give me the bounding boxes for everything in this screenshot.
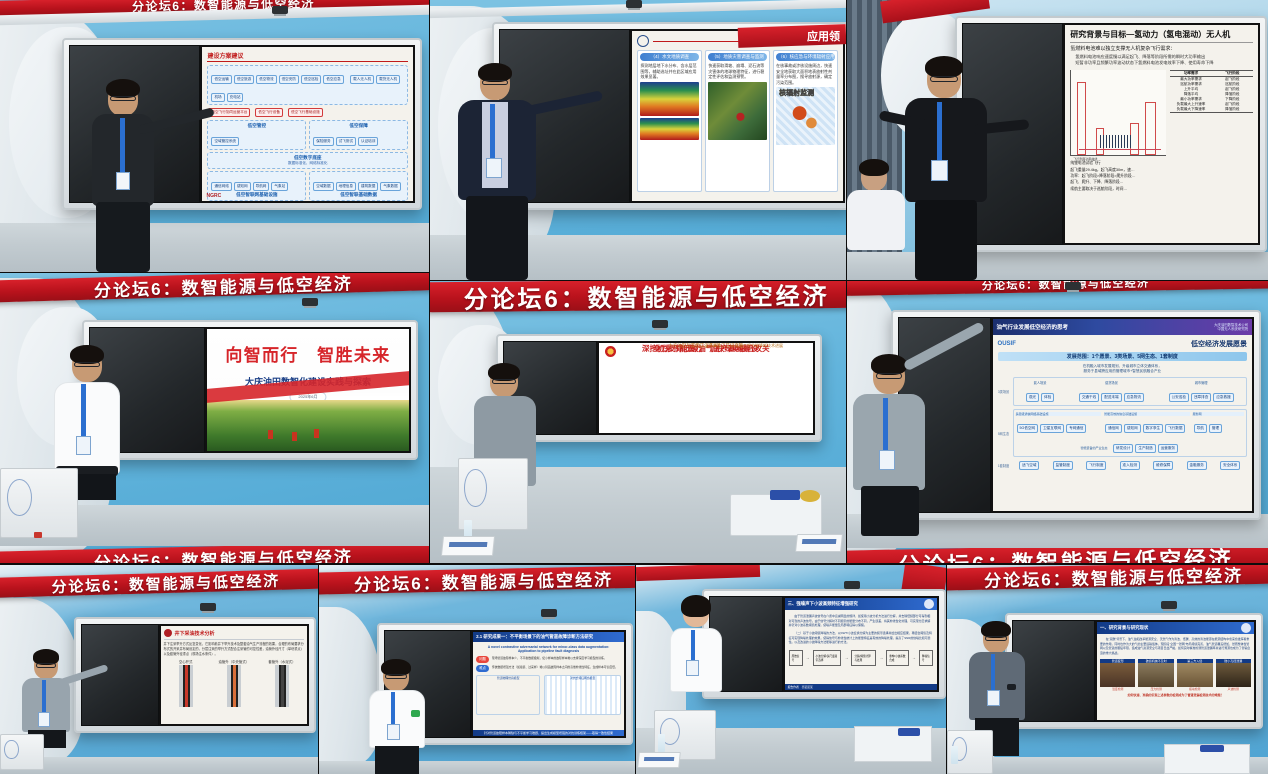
glasses-icon — [110, 96, 135, 101]
lanyard-icon — [120, 118, 125, 174]
badge — [486, 158, 502, 178]
floor — [0, 223, 429, 272]
radiation-label: 核辐射监测 — [779, 89, 814, 98]
university-logo-icon — [924, 599, 934, 609]
speaker-person — [903, 60, 989, 280]
divider-v2 — [846, 0, 847, 565]
power-requirement-table: 功率需求 飞行阶段 最大功率需求起飞阶段 巡航功率需求巡航阶段 上升平均起飞阶段… — [1170, 70, 1253, 156]
slide-title: 油气行业发展低空经济的思考 — [997, 323, 1069, 331]
badge — [38, 712, 50, 727]
chart-xlabel: 飞行剖面功率曲线 — [1073, 157, 1097, 161]
well-diagram — [275, 665, 289, 707]
lanyard-icon — [691, 630, 695, 664]
camera-icon — [1065, 282, 1081, 290]
slide-pipeline-fault: 2.1 研究成果一：不平衡场景下的油气管道故障诊断方法研究 A novel co… — [473, 632, 624, 736]
presentation-screen[interactable]: 应用领域 （4）水文地质调查 探测地层地下水分布、含水层范围等，辅助选址并在此区… — [630, 29, 845, 203]
lanyard-icon — [490, 104, 495, 162]
slide-right-title: 低空经济发展愿景 — [1191, 339, 1247, 349]
speaker-legs — [915, 200, 977, 280]
room-backdrop: 分论坛6：数智能源与低空经济 建设方案建议 低空运输低空旅游低空物流低空安防低空… — [0, 0, 429, 272]
cover-headline: 向智而行 智胜未来 — [207, 341, 409, 366]
presentation-screen[interactable]: 向智而行 智胜未来 大庆油田数智化建设实践与探索 2025年6月 — [205, 327, 411, 453]
arrow-icon: → — [912, 655, 916, 660]
whiteboard-frame: 向智而行 智胜未来 大庆油田数智化建设实践与探索 2025年6月 — [82, 320, 418, 460]
glasses-icon — [36, 663, 56, 667]
badge-difficulty: 难点 — [476, 665, 489, 672]
cover-oilfield-image — [207, 400, 409, 451]
panel-bottom-3: 三、强噪声下小波高频特征增强研究 由于管道泄漏声波信号在介质中衰减明显的规律，如… — [636, 565, 946, 774]
lanyard-icon — [42, 680, 46, 716]
speaker-person — [670, 598, 722, 716]
well-diagram — [227, 665, 241, 707]
badge-problem: 问题 — [476, 656, 489, 663]
presentation-screen[interactable]: 井下采油技术分析 井下注采举升方式反复变化，它影响着井下举升技术及整套油气生产流… — [159, 624, 309, 726]
name-card — [637, 752, 681, 768]
divider-h2 — [0, 563, 1268, 565]
thermal-section-image — [640, 82, 699, 116]
podium-button[interactable] — [34, 532, 42, 538]
photo-thumb — [1100, 663, 1136, 687]
glasses-icon — [492, 379, 516, 384]
presentation-screen[interactable]: 三、强噪声下小波高频特征增强研究 由于管道泄漏声波信号在介质中衰减明显的规律，如… — [783, 596, 939, 692]
chip-platform: 低空飞行协同运营平台 — [208, 108, 250, 117]
band-mid-lines: 数据标准化、网络标准化 — [210, 161, 405, 166]
badge — [116, 172, 130, 190]
camera-icon — [541, 609, 557, 617]
whiteboard-frame: 井下采油技术分析 井下注采举升方式反复变化，它影响着井下举升技术及整套油气生产流… — [74, 617, 316, 733]
whiteboard-frame: 一、研究背景与研究现状 在“双碳”背景下，油气油和改革能源安全、天然气作为清洁、… — [1005, 613, 1263, 729]
whiteboard-frame: 深挖机采节能潜力 加快绿电融合攻关 全力支撑低碳油气生产基地建设 —— 采油工程… — [496, 334, 822, 442]
camera-icon — [272, 6, 288, 14]
whiteboard-frame: 研究背景与目标—氢动力（氢电混动）无人机 氢燃料电池难以独立支撑无人机复杂飞行需… — [955, 16, 1267, 252]
speaker-legs — [96, 202, 150, 272]
university-logo-icon — [637, 35, 649, 47]
water-bottle — [658, 734, 665, 752]
camera-icon — [844, 581, 860, 589]
bullet-3: 短暂非功率且频繁功率波动状态下氢燃料电池发电效率下降、使用寿命下降 — [1070, 60, 1253, 66]
slide-paragraph: 井下注采举升方式反复变化，它影响着井下举升技术及整套油气生产流程的效果，合理的布… — [164, 642, 304, 656]
badge — [987, 690, 1000, 706]
slide-title: 一、研究背景与研究现状 — [1100, 625, 1148, 631]
camera-icon — [652, 320, 668, 328]
lanyard-icon — [81, 384, 86, 440]
name-card-2 — [795, 534, 843, 552]
speaker-legs — [466, 196, 528, 280]
scope-bar: 发展范围：1个愿景、3类场景、5网生态、1套制度 — [998, 352, 1247, 361]
screen-bezel — [202, 201, 413, 203]
slide-low-altitude-economy: 油气行业发展低空经济的思考 大庆油田数智技术公司 中国无人系统研究院 OUSIF… — [993, 319, 1252, 511]
slide-logo: NGRC — [206, 193, 221, 199]
badge — [76, 436, 91, 455]
presentation-screen[interactable]: 建设方案建议 低空运输低空旅游低空物流低空安防低空巡检低空应急 载人无人机载货无… — [200, 45, 415, 203]
glasses-icon — [985, 636, 1007, 641]
band-control: 低空管控 — [210, 123, 303, 129]
folder — [770, 490, 800, 500]
slide-wavelet: 三、强噪声下小波高频特征增强研究 由于管道泄漏声波信号在介质中衰减明显的规律，如… — [785, 598, 937, 690]
slide-notes: 纯锂电池试验飞行 起飞重量29.4kg，起飞高度30m，速… 功率：起飞阶段>降… — [1070, 160, 1253, 192]
university-logo-icon — [1241, 623, 1251, 633]
banner-fragment-text: 应用领 — [807, 28, 840, 44]
paragraph-2: （二）基于小波阈值降噪的方法，以DWT/小波变换分解为主要的频带选择并给出相应结… — [789, 631, 933, 645]
speaker-legs — [375, 746, 419, 774]
whiteboard-frame: 应用领域 （4）水文地质调查 探测地层地下水分布、含水层范围等，辅助选址并在此区… — [492, 22, 846, 210]
speaker-torso — [853, 394, 925, 490]
camera-icon — [1161, 601, 1177, 609]
fruit-plate — [800, 490, 820, 502]
camera-icon — [302, 298, 318, 306]
whiteboard-frame: 三、强噪声下小波高频特征增强研究 由于管道泄漏声波信号在介质中衰减明显的规律，如… — [702, 589, 946, 699]
photo-thumb — [1177, 663, 1213, 687]
divider-v3 — [318, 565, 319, 774]
panel-top-center: 应用领域 （4）水文地质调查 探测地层地下水分布、含水层范围等，辅助选址并在此区… — [430, 0, 846, 280]
slide-title: 建设方案建议 — [207, 51, 408, 62]
badge — [879, 450, 895, 470]
glasses-icon — [930, 76, 959, 82]
photo-thumb — [1138, 663, 1174, 687]
photo-collage: 分论坛6：数智能源与低空经济 建设方案建议 低空运输低空旅游低空物流低空安防低空… — [0, 0, 1268, 774]
side-table — [854, 726, 932, 762]
folder — [898, 728, 920, 736]
case-card: （6）核应急与环境辐射应用 在核事故或涉核设施周边，快速安全地获取大面积地表放射… — [773, 50, 838, 192]
presentation-screen[interactable]: 研究背景与目标—氢动力（氢电混动）无人机 氢燃料电池难以独立支撑无人机复杂飞行需… — [1063, 23, 1260, 245]
slide-hydrogen-uav: 研究背景与目标—氢动力（氢电混动）无人机 氢燃料电池难以独立支撑无人机复杂飞行需… — [1065, 25, 1258, 243]
slide-title: 2.1 研究成果一：不平衡场景下的油气管道故障诊断方法研究 — [473, 632, 624, 642]
slide-footer: 如何快速、准确的实现上述参数的检测成为了管道泄漏检测技术的难题！ — [1100, 693, 1251, 697]
glasses-icon — [74, 362, 99, 367]
case-card: （4）水文地质调查 探测地层地下水分布、含水层范围等，辅助选址并在此区域应用效果… — [637, 50, 702, 192]
panel-bottom-2: 分论坛6：数智能源与低空经济 2.1 研究成果一：不平衡场景下的油气管道故障诊断… — [319, 565, 635, 774]
thermal-profile-image — [640, 118, 699, 140]
speaker-person — [369, 662, 425, 774]
power-profile-chart: 飞行剖面功率曲线 — [1070, 70, 1166, 156]
landslide-image — [708, 82, 767, 140]
lanyard-icon — [991, 654, 995, 692]
case-card: （5）地质灾害调查与监测 快速获取滑坡、崩塌、泥石流等灾害体的地球物理特征，进行… — [705, 50, 770, 192]
speaker-person — [853, 322, 925, 536]
presentation-screen[interactable]: 深挖机采节能潜力 加快绿电融合攻关 全力支撑低碳油气生产基地建设 —— 采油工程… — [597, 341, 815, 435]
badge — [686, 660, 699, 676]
divider-v5 — [946, 565, 947, 774]
chip-infra: 低空飞行基础设施 — [288, 108, 323, 117]
badge — [931, 160, 948, 181]
podium — [0, 468, 78, 538]
slide-cover-daqing: 向智而行 智胜未来 大庆油田数智化建设实践与探索 2025年6月 — [207, 329, 409, 451]
presenter-remote — [1007, 684, 1016, 690]
lanyard-icon — [883, 398, 888, 454]
divider-h1-left — [0, 272, 430, 273]
camera-icon — [200, 603, 216, 611]
panel-mid-left: 分论坛6：数智能源与低空经济 分论坛6：数智能源与低空经济 向智而行 智胜未来 … — [0, 272, 429, 564]
panel-top-right: 研究背景与目标—氢动力（氢电混动）无人机 氢燃料电池难以独立支撑无人机复杂飞行需… — [847, 0, 1268, 280]
divider-h1-right — [430, 280, 1268, 281]
glasses-icon — [876, 373, 903, 379]
audience-torso — [847, 190, 905, 250]
right-block: 对抗式特征网络模型 — [544, 675, 621, 715]
speaker-head — [108, 82, 138, 116]
bullet-1: 氢燃料电池难以独立支撑无人机复杂飞行需求： — [1070, 46, 1253, 54]
well-diagram — [179, 665, 193, 707]
name-card — [441, 536, 495, 556]
slide-research-background: 一、研究背景与研究现状 在“双碳”背景下，油气油和改革能源安全、天然气作为清洁、… — [1097, 622, 1254, 720]
band-bottom-left: 低空智联网基础设施 — [210, 192, 303, 198]
arrow-icon: → — [806, 655, 810, 660]
panel-bottom-4: 分论坛6：数智能源与低空经济 一、研究背景与研究现状 在“双碳”背景下，油气油和… — [947, 565, 1268, 774]
speaker-shirt — [54, 382, 120, 474]
cover-date: 二〇二五年6月 — [599, 343, 813, 349]
presenter-remote — [411, 710, 420, 717]
arrow-icon: → — [879, 655, 883, 660]
lanyard-icon — [391, 692, 395, 728]
divider-v1 — [429, 0, 430, 565]
panel-top-left: 分论坛6：数智能源与低空经济 建设方案建议 低空运输低空旅游低空物流低空安防低空… — [0, 0, 429, 272]
speaker-person — [92, 82, 154, 272]
divider-v4 — [635, 565, 636, 774]
radiation-map-image: 核辐射监测 — [776, 87, 835, 145]
lanyard-icon — [937, 102, 942, 164]
glasses-icon — [482, 80, 507, 85]
water-bottle — [951, 746, 958, 764]
slide-title: 研究背景与目标—氢动力（氢电混动）无人机 — [1070, 29, 1253, 40]
camera-icon — [626, 0, 642, 8]
slide-applications: 应用领域 （4）水文地质调查 探测地层地下水分布、含水层范围等，辅助选址并在此区… — [632, 31, 843, 201]
panel-bottom-1: 分论坛6：数智能源与低空经济 井下采油技术分析 井下注采举升方式反复变化，它影响… — [0, 565, 318, 774]
presentation-screen[interactable]: 2.1 研究成果一：不平衡场景下的油气管道故障诊断方法研究 A novel co… — [471, 630, 626, 738]
slide-title: 三、强噪声下小波高频特征增强研究 — [788, 601, 858, 607]
presentation-screen[interactable]: 油气行业发展低空经济的思考 大庆油田数智技术公司 中国无人系统研究院 OUSIF… — [991, 317, 1254, 513]
band-bottom-right: 低空智联基础数据 — [312, 192, 405, 198]
photo-thumb — [1216, 663, 1252, 687]
speaker-torso — [969, 652, 1025, 720]
slide-logo: OUSIF — [998, 341, 1016, 347]
slide-title: 井下采油技术分析 — [175, 630, 215, 637]
chip-equipment: 低空飞行设备 — [255, 108, 283, 117]
speaker-legs — [861, 486, 919, 536]
glasses-icon — [385, 674, 407, 679]
forum-banner: 分论坛6：数智能源与低空经济 — [430, 280, 846, 313]
institute-logo-icon — [164, 629, 172, 637]
band-support: 低空保障 — [312, 123, 405, 129]
paragraph-1: 由于管道泄漏声波信号在介质中衰减明显的规律，如使用小波分析方法进行分解，并去除低… — [789, 614, 933, 628]
presentation-screen[interactable]: 一、研究背景与研究现状 在“双碳”背景下，油气油和改革能源安全、天然气作为清洁、… — [1095, 620, 1256, 722]
audience-person — [847, 162, 905, 258]
speaker-torso — [905, 98, 987, 202]
badge — [387, 724, 400, 740]
podium — [0, 734, 44, 770]
folder — [1200, 745, 1224, 752]
arrow-icon: → — [844, 655, 848, 660]
slide-paragraph: 在“双碳”背景下，油气油和改革能源安全、天然气作为清洁、低碳、高效的清洁能源在能… — [1100, 637, 1251, 656]
slide-well-tech: 井下采油技术分析 井下注采举升方式反复变化，它影响着井下举升技术及整套油气生产流… — [161, 626, 307, 724]
speaker-person — [458, 66, 536, 280]
left-block: 管道物理仿真模型 — [476, 675, 540, 715]
panel-mid-center: 分论坛6：数智能源与低空经济 分论坛6：数智能源与低空经济 深挖机采节能潜力 加… — [430, 280, 846, 564]
slide-building-plan: 建设方案建议 低空运输低空旅游低空物流低空安防低空巡检低空应急 载人无人机载货无… — [202, 47, 413, 201]
panel-mid-right: 分论坛6：数智能源与低空经济 分论坛6：数智能源与低空经济 油气行业发展低空经济… — [847, 280, 1268, 564]
